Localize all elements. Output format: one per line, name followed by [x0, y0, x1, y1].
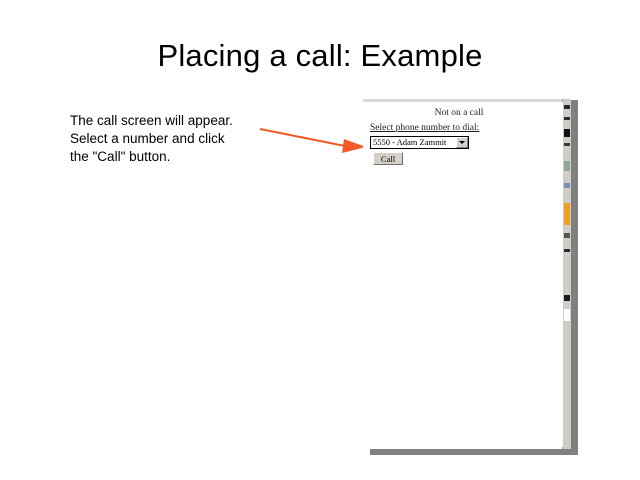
page-title: Placing a call: Example: [0, 38, 640, 74]
phone-number-select[interactable]: 5550 - Adam Zammit: [370, 136, 469, 149]
slide-body-text: The call screen will appear. Select a nu…: [70, 112, 270, 166]
body-text-line: the "Call" button.: [70, 148, 270, 166]
embedded-app-screenshot: Not on a call Select phone number to dia…: [363, 94, 571, 449]
capture-right-edge-sliver: [562, 99, 571, 449]
body-text-line: The call screen will appear.: [70, 112, 270, 130]
pointer-arrow-icon: [258, 120, 373, 160]
dial-number-label: Select phone number to dial:: [370, 123, 479, 133]
call-button[interactable]: Call: [373, 152, 403, 165]
call-status-text: Not on a call: [363, 108, 555, 118]
chevron-down-icon[interactable]: [456, 137, 468, 148]
body-text-line: Select a number and click: [70, 130, 270, 148]
call-screen-page: Not on a call Select phone number to dia…: [363, 102, 563, 447]
phone-number-select-value: 5550 - Adam Zammit: [371, 137, 456, 148]
